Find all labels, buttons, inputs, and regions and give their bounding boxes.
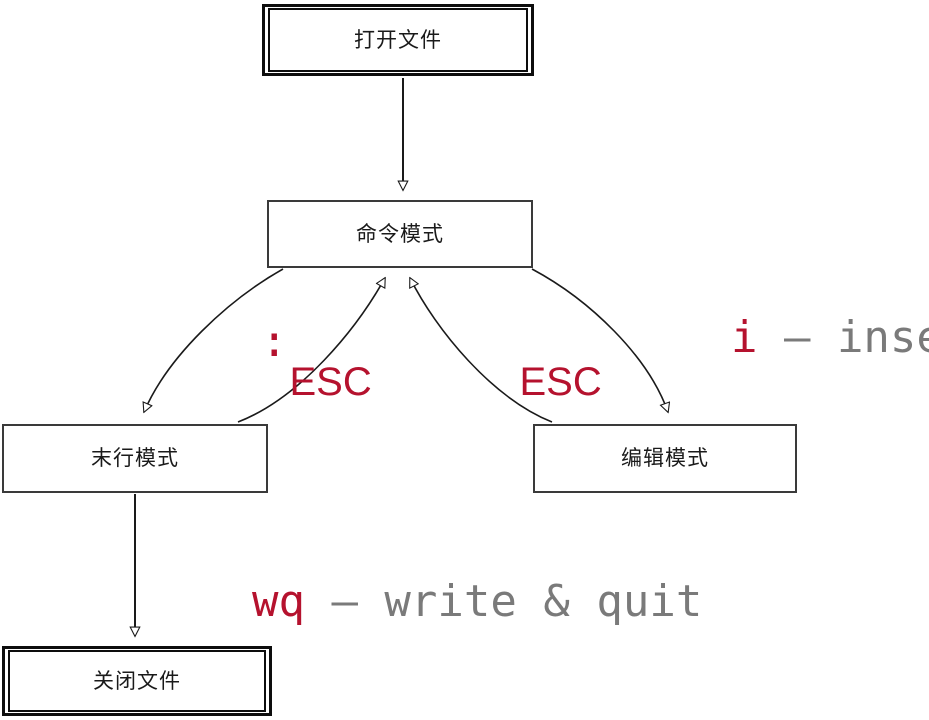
edge-label-esc-right-key: ESC xyxy=(519,360,601,404)
edge-label-write-quit-desc: – write & quit xyxy=(305,576,702,627)
edge-label-write-quit-key: wq xyxy=(252,576,305,627)
node-command-mode[interactable]: 命令模式 xyxy=(267,200,533,268)
node-open-file-label: 打开文件 xyxy=(354,30,442,51)
node-lastline-mode-label: 末行模式 xyxy=(91,448,179,469)
node-command-mode-label: 命令模式 xyxy=(356,224,444,245)
edge-label-esc-left: ESC xyxy=(245,322,372,442)
edge-label-insert-desc: – insert xyxy=(757,312,929,363)
node-close-file-label: 关闭文件 xyxy=(93,671,181,692)
node-edit-mode-label: 编辑模式 xyxy=(621,448,709,469)
edge-label-write-quit: wq – write & quit xyxy=(146,536,702,668)
edge-label-esc-left-key: ESC xyxy=(289,360,371,404)
node-open-file[interactable]: 打开文件 xyxy=(262,4,534,76)
edge-label-esc-right: ESC xyxy=(475,322,602,442)
node-lastline-mode[interactable]: 末行模式 xyxy=(2,424,268,493)
edge-label-insert: i – insert xyxy=(625,272,929,404)
edge-label-insert-key: i xyxy=(731,312,758,363)
vim-mode-flowchart: 打开文件 命令模式 末行模式 编辑模式 关闭文件 : ESC ESC i – i… xyxy=(0,0,929,720)
node-open-file-inner: 打开文件 xyxy=(268,8,528,72)
